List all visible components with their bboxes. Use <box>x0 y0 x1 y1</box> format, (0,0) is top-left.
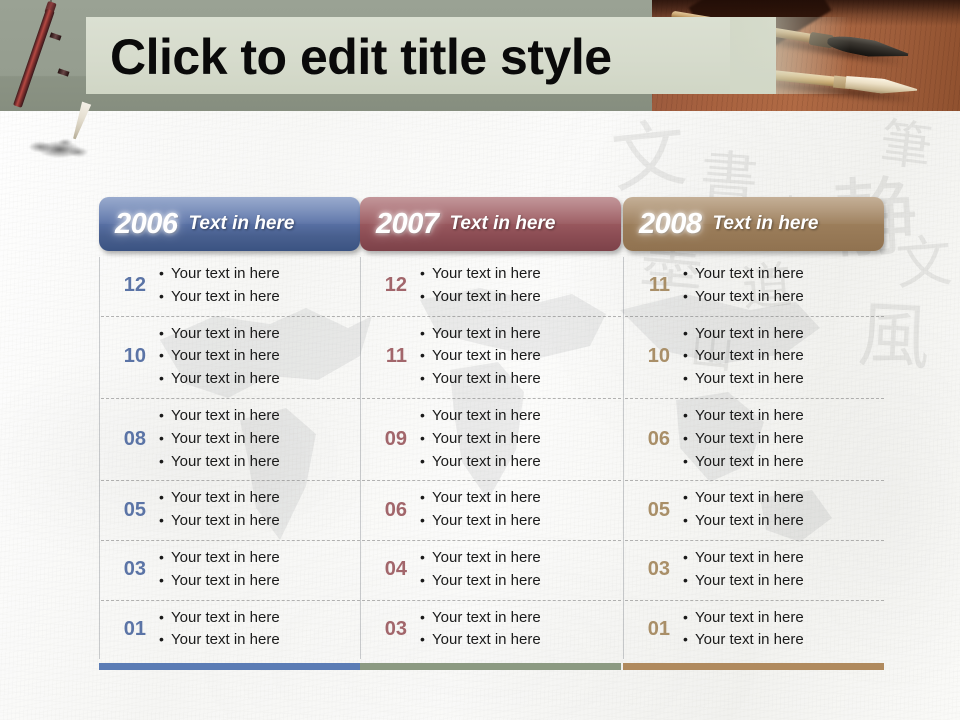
timeline-row[interactable]: 03Your text in hereYour text in here <box>101 541 360 601</box>
row-bullet-list: Your text in hereYour text in here <box>683 547 884 593</box>
row-month-number: 10 <box>101 345 159 368</box>
bullet-item[interactable]: Your text in here <box>159 451 360 474</box>
bullet-item[interactable]: Your text in here <box>420 570 621 593</box>
timeline-row[interactable]: 10Your text in hereYour text in hereYour… <box>101 317 360 399</box>
timeline-row[interactable]: 11Your text in hereYour text in hereYour… <box>362 317 621 399</box>
row-month-number: 01 <box>101 618 159 641</box>
row-bullet-list: Your text in hereYour text in here <box>159 607 360 653</box>
bullet-item[interactable]: Your text in here <box>683 487 884 510</box>
timeline-row[interactable]: 05Your text in hereYour text in here <box>101 481 360 541</box>
row-month-number: 11 <box>362 345 420 368</box>
year-panel: 2006Text in here12Your text in hereYour … <box>99 197 360 670</box>
bullet-item[interactable]: Your text in here <box>683 629 884 652</box>
row-month-number: 01 <box>625 618 683 641</box>
panel-year-label: 2006 <box>115 208 178 241</box>
panel-header-2006[interactable]: 2006Text in here <box>99 197 360 251</box>
bullet-item[interactable]: Your text in here <box>159 368 360 391</box>
row-bullet-list: Your text in hereYour text in hereYour t… <box>420 405 621 473</box>
bullet-item[interactable]: Your text in here <box>683 323 884 346</box>
bullet-item[interactable]: Your text in here <box>420 368 621 391</box>
row-bullet-list: Your text in hereYour text in here <box>420 263 621 309</box>
bullet-item[interactable]: Your text in here <box>420 323 621 346</box>
row-month-number: 03 <box>101 558 159 581</box>
bullet-item[interactable]: Your text in here <box>683 451 884 474</box>
row-bullet-list: Your text in hereYour text in here <box>683 263 884 309</box>
bullet-item[interactable]: Your text in here <box>420 629 621 652</box>
bullet-item[interactable]: Your text in here <box>159 547 360 570</box>
panel-caption-label: Text in here <box>189 213 295 235</box>
panel-footer-bar <box>99 663 360 670</box>
row-month-number: 12 <box>101 274 159 297</box>
bullet-item[interactable]: Your text in here <box>420 286 621 309</box>
timeline-row[interactable]: 01Your text in hereYour text in here <box>625 601 884 660</box>
panel-body: 12Your text in hereYour text in here11Yo… <box>360 257 621 659</box>
row-bullet-list: Your text in hereYour text in here <box>159 263 360 309</box>
timeline-row[interactable]: 03Your text in hereYour text in here <box>625 541 884 601</box>
year-panel: 2008Text in here11Your text in hereYour … <box>623 197 884 670</box>
timeline-row[interactable]: 04Your text in hereYour text in here <box>362 541 621 601</box>
bullet-item[interactable]: Your text in here <box>683 428 884 451</box>
timeline-row[interactable]: 06Your text in hereYour text in hereYour… <box>625 399 884 481</box>
row-bullet-list: Your text in hereYour text in hereYour t… <box>159 405 360 473</box>
bullet-item[interactable]: Your text in here <box>683 510 884 533</box>
row-month-number: 12 <box>362 274 420 297</box>
bullet-item[interactable]: Your text in here <box>420 510 621 533</box>
bullet-item[interactable]: Your text in here <box>683 547 884 570</box>
row-bullet-list: Your text in hereYour text in hereYour t… <box>159 323 360 391</box>
row-month-number: 06 <box>625 428 683 451</box>
row-month-number: 05 <box>101 499 159 522</box>
bullet-item[interactable]: Your text in here <box>683 607 884 630</box>
timeline-row[interactable]: 12Your text in hereYour text in here <box>362 257 621 317</box>
bullet-item[interactable]: Your text in here <box>420 345 621 368</box>
bullet-item[interactable]: Your text in here <box>683 263 884 286</box>
timeline-row[interactable]: 08Your text in hereYour text in hereYour… <box>101 399 360 481</box>
bullet-item[interactable]: Your text in here <box>159 323 360 346</box>
bullet-item[interactable]: Your text in here <box>159 607 360 630</box>
row-bullet-list: Your text in hereYour text in here <box>683 607 884 653</box>
row-bullet-list: Your text in hereYour text in here <box>420 547 621 593</box>
bullet-item[interactable]: Your text in here <box>420 547 621 570</box>
bullet-item[interactable]: Your text in here <box>683 286 884 309</box>
bullet-item[interactable]: Your text in here <box>683 405 884 428</box>
row-month-number: 05 <box>625 499 683 522</box>
timeline-row[interactable]: 11Your text in hereYour text in here <box>625 257 884 317</box>
bullet-item[interactable]: Your text in here <box>159 405 360 428</box>
panel-year-label: 2008 <box>639 208 702 241</box>
bullet-item[interactable]: Your text in here <box>420 451 621 474</box>
row-month-number: 10 <box>625 345 683 368</box>
row-month-number: 06 <box>362 499 420 522</box>
bullet-item[interactable]: Your text in here <box>420 405 621 428</box>
row-bullet-list: Your text in hereYour text in here <box>420 607 621 653</box>
row-bullet-list: Your text in hereYour text in hereYour t… <box>683 323 884 391</box>
bullet-item[interactable]: Your text in here <box>159 286 360 309</box>
panel-footer-bar <box>623 663 884 670</box>
bullet-item[interactable]: Your text in here <box>159 570 360 593</box>
row-bullet-list: Your text in hereYour text in hereYour t… <box>683 405 884 473</box>
row-bullet-list: Your text in hereYour text in here <box>159 487 360 533</box>
bullet-item[interactable]: Your text in here <box>159 428 360 451</box>
page-title[interactable]: Click to edit title style <box>110 28 612 86</box>
panel-body: 12Your text in hereYour text in here10Yo… <box>99 257 360 659</box>
timeline-row[interactable]: 03Your text in hereYour text in here <box>362 601 621 660</box>
bullet-item[interactable]: Your text in here <box>159 629 360 652</box>
panel-header-2007[interactable]: 2007Text in here <box>360 197 621 251</box>
timeline-panels: 2006Text in here12Your text in hereYour … <box>0 0 960 720</box>
panel-year-label: 2007 <box>376 208 439 241</box>
timeline-row[interactable]: 09Your text in hereYour text in hereYour… <box>362 399 621 481</box>
presentation-slide: 文書静筆墨道風山文書 Click to edit titl <box>0 0 960 720</box>
timeline-row[interactable]: 06Your text in hereYour text in here <box>362 481 621 541</box>
bullet-item[interactable]: Your text in here <box>683 570 884 593</box>
row-month-number: 11 <box>625 274 683 297</box>
bullet-item[interactable]: Your text in here <box>159 345 360 368</box>
bullet-item[interactable]: Your text in here <box>420 487 621 510</box>
panel-footer-bar <box>360 663 621 670</box>
row-month-number: 08 <box>101 428 159 451</box>
year-panel: 2007Text in here12Your text in hereYour … <box>360 197 621 670</box>
panel-header-2008[interactable]: 2008Text in here <box>623 197 884 251</box>
timeline-row[interactable]: 05Your text in hereYour text in here <box>625 481 884 541</box>
panel-caption-label: Text in here <box>713 213 819 235</box>
row-month-number: 03 <box>362 618 420 641</box>
row-bullet-list: Your text in hereYour text in here <box>683 487 884 533</box>
timeline-row[interactable]: 12Your text in hereYour text in here <box>101 257 360 317</box>
bullet-item[interactable]: Your text in here <box>420 428 621 451</box>
row-month-number: 04 <box>362 558 420 581</box>
row-bullet-list: Your text in hereYour text in hereYour t… <box>420 323 621 391</box>
timeline-row[interactable]: 01Your text in hereYour text in here <box>101 601 360 660</box>
bullet-item[interactable]: Your text in here <box>420 263 621 286</box>
bullet-item[interactable]: Your text in here <box>159 487 360 510</box>
panel-body: 11Your text in hereYour text in here10Yo… <box>623 257 884 659</box>
timeline-row[interactable]: 10Your text in hereYour text in hereYour… <box>625 317 884 399</box>
bullet-item[interactable]: Your text in here <box>683 368 884 391</box>
bullet-item[interactable]: Your text in here <box>159 263 360 286</box>
row-month-number: 03 <box>625 558 683 581</box>
bullet-item[interactable]: Your text in here <box>420 607 621 630</box>
row-bullet-list: Your text in hereYour text in here <box>420 487 621 533</box>
bullet-item[interactable]: Your text in here <box>159 510 360 533</box>
panel-caption-label: Text in here <box>450 213 556 235</box>
row-bullet-list: Your text in hereYour text in here <box>159 547 360 593</box>
bullet-item[interactable]: Your text in here <box>683 345 884 368</box>
row-month-number: 09 <box>362 428 420 451</box>
